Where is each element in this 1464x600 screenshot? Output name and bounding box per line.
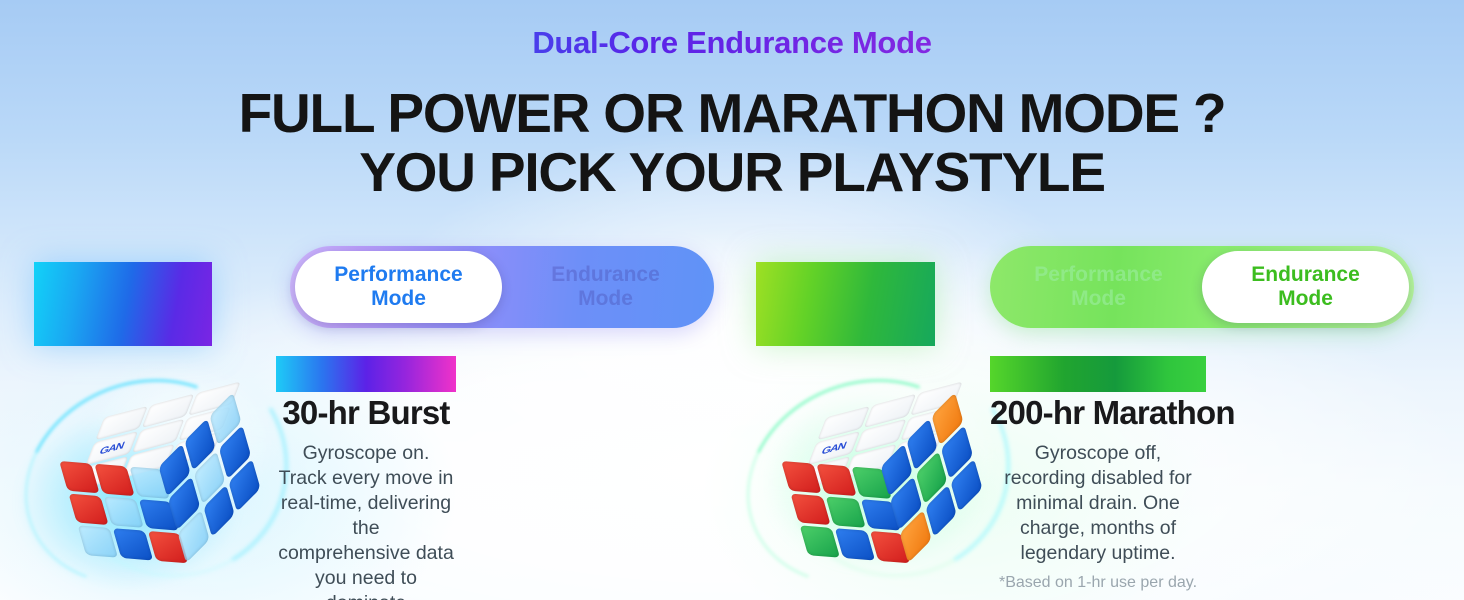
toggle-option-endurance-mode[interactable]: Endurance Mode bbox=[502, 251, 709, 323]
toggle-option-label-line1: Performance bbox=[334, 263, 462, 287]
description-line: recording disabled for minimal drain. On… bbox=[990, 466, 1206, 516]
description-line: Gyroscope off, bbox=[990, 441, 1206, 466]
mode-toggle-endurance[interactable]: Performance Mode Endurance Mode bbox=[990, 246, 1414, 328]
toggle-option-label-line2: Mode bbox=[1034, 287, 1162, 311]
page-title: Full Power or Marathon Mode ? You Pick Y… bbox=[0, 84, 1464, 203]
headline-line-1: Full Power or Marathon Mode ? bbox=[239, 82, 1226, 144]
toggle-option-performance-mode[interactable]: Performance Mode bbox=[995, 251, 1202, 323]
mode-subtitle: 30-hr Burst bbox=[276, 393, 456, 433]
metric-value-200h: 200h bbox=[756, 262, 935, 346]
mode-description: Gyroscope on. Track every move in real-t… bbox=[276, 441, 456, 600]
toggle-option-endurance-mode[interactable]: Endurance Mode bbox=[1202, 251, 1409, 323]
toggle-option-label-line2: Mode bbox=[334, 287, 462, 311]
endurance-mode-copy: Endurance Mode 200-hr Marathon Gyroscope… bbox=[732, 356, 1464, 592]
toggle-option-label-line2: Mode bbox=[1251, 287, 1360, 311]
toggle-option-label-line1: Endurance bbox=[551, 263, 660, 287]
mode-title: Endurance Mode bbox=[990, 356, 1206, 392]
mode-subtitle: 200-hr Marathon bbox=[990, 393, 1206, 433]
mode-description: Gyroscope off, recording disabled for mi… bbox=[990, 441, 1206, 566]
description-line: Track every move in real-time, deliverin… bbox=[276, 466, 456, 541]
description-line: Gyroscope on. bbox=[276, 441, 456, 466]
toggle-option-label-line1: Performance bbox=[1034, 263, 1162, 287]
promo-banner: Dual-Core Endurance Mode Full Power or M… bbox=[0, 0, 1464, 600]
performance-mode-copy: Performance Mode 30-hr Burst Gyroscope o… bbox=[0, 356, 732, 600]
toggle-option-label-line2: Mode bbox=[551, 287, 660, 311]
description-line: charge, months of legendary uptime. bbox=[990, 516, 1206, 566]
eyebrow-title: Dual-Core Endurance Mode bbox=[0, 25, 1464, 61]
performance-mode-column: MAX GAN bbox=[0, 246, 732, 600]
toggle-option-label-line1: Endurance bbox=[1251, 263, 1360, 287]
mode-title: Performance Mode bbox=[276, 356, 456, 392]
endurance-mode-column: 200h GAN bbox=[732, 246, 1464, 600]
headline-line-2: You Pick Your Playstyle bbox=[0, 143, 1464, 202]
mode-toggle-performance[interactable]: Performance Mode Endurance Mode bbox=[290, 246, 714, 328]
metric-value-max: MAX bbox=[34, 262, 212, 346]
mode-footnote: *Based on 1-hr use per day. bbox=[990, 573, 1206, 592]
description-line: comprehensive data you need to dominate bbox=[276, 541, 456, 600]
toggle-option-performance-mode[interactable]: Performance Mode bbox=[295, 251, 502, 323]
